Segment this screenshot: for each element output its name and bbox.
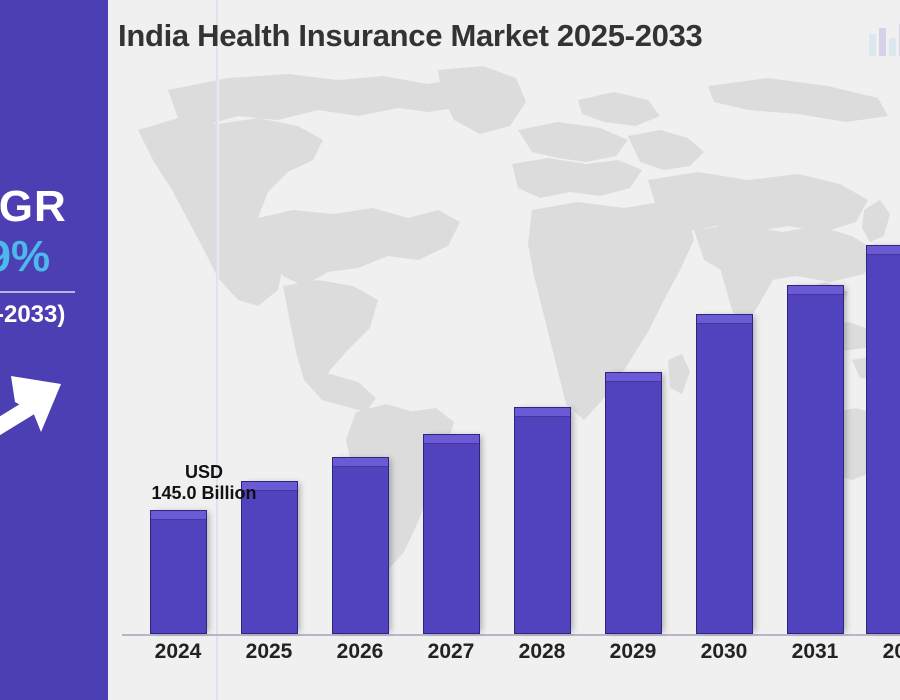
- bar-cap: [867, 246, 900, 255]
- x-tick-2032: 2032: [861, 640, 900, 664]
- cagr-period: (2025-2033): [0, 303, 108, 327]
- chart-infographic: India Health Insurance Market 2025-2033 …: [0, 0, 900, 700]
- cagr-block: CAGR 9.9% (2025-2033): [0, 185, 108, 327]
- page-title: India Health Insurance Market 2025-2033: [118, 18, 702, 54]
- bar-2030[interactable]: [696, 314, 753, 634]
- bar-cap: [697, 315, 752, 324]
- growth-arrow-wrapper: [0, 360, 108, 480]
- bar-cap: [788, 286, 843, 295]
- bar-2029[interactable]: [605, 372, 662, 634]
- bar-2024[interactable]: [150, 510, 207, 634]
- x-tick-2030: 2030: [679, 640, 769, 664]
- x-tick-2029: 2029: [588, 640, 678, 664]
- watermark-logo-icon: [866, 24, 900, 58]
- x-tick-2027: 2027: [406, 640, 496, 664]
- x-tick-2026: 2026: [315, 640, 405, 664]
- growth-arrow-icon: [0, 360, 85, 480]
- bar-2031[interactable]: [787, 285, 844, 634]
- bar-2032[interactable]: [866, 245, 900, 634]
- x-axis-line: [122, 634, 900, 636]
- x-tick-2024: 2024: [133, 640, 223, 664]
- bar-cap: [606, 373, 661, 382]
- callout-value: 145.0 Billion: [134, 483, 274, 504]
- plot-area: 2024 2025 2026 2027 2028 2029 2030 2031 …: [108, 0, 900, 700]
- x-tick-2025: 2025: [224, 640, 314, 664]
- cagr-label: CAGR: [0, 185, 108, 229]
- cagr-divider: [0, 291, 75, 293]
- bar-cap: [151, 511, 206, 520]
- bar-cap: [515, 408, 570, 417]
- cagr-value: 9.9%: [0, 235, 108, 279]
- x-tick-2028: 2028: [497, 640, 587, 664]
- bar-cap: [424, 435, 479, 444]
- value-callout-2024: USD 145.0 Billion: [134, 462, 274, 504]
- bar-cap: [333, 458, 388, 467]
- cagr-sidebar: CAGR 9.9% (2025-2033): [0, 0, 108, 700]
- bar-2027[interactable]: [423, 434, 480, 634]
- bar-2026[interactable]: [332, 457, 389, 634]
- bar-2028[interactable]: [514, 407, 571, 634]
- x-tick-2031: 2031: [770, 640, 860, 664]
- callout-currency: USD: [134, 462, 274, 483]
